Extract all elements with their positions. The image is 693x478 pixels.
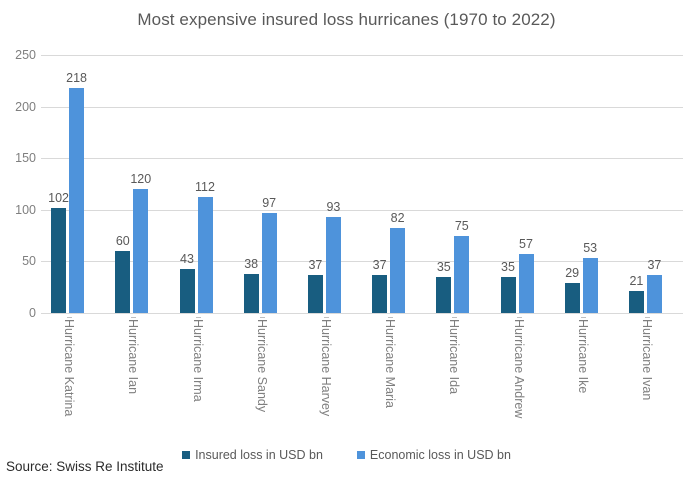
bar-group: 43112	[180, 55, 216, 313]
x-axis-category-label: Hurricane Irma	[191, 319, 205, 437]
bar-value-label: 120	[121, 172, 161, 186]
bar-value-label: 97	[249, 196, 289, 210]
bar-economic[interactable]	[198, 197, 213, 313]
bar-insured[interactable]	[244, 274, 259, 313]
bar-economic[interactable]	[69, 88, 84, 313]
x-axis-tick	[581, 317, 586, 318]
x-axis-category-label: Hurricane Ike	[576, 319, 590, 437]
bar-value-label: 37	[634, 258, 674, 272]
x-axis-line	[41, 313, 683, 314]
bar-chart: Most expensive insured loss hurricanes (…	[0, 0, 693, 478]
bar-economic[interactable]	[647, 275, 662, 313]
y-axis-tick-label: 200	[0, 100, 36, 114]
plot-area: 1022186012043112389737933782357535572953…	[41, 55, 683, 313]
bar-insured[interactable]	[501, 277, 516, 313]
x-axis-category-label: Hurricane Ida	[447, 319, 461, 437]
x-axis-category-label: Hurricane Ian	[126, 319, 140, 437]
bar-economic[interactable]	[133, 189, 148, 313]
bar-value-label: 93	[313, 200, 353, 214]
bar-insured[interactable]	[308, 275, 323, 313]
x-axis-category-label: Hurricane Ivan	[640, 319, 654, 437]
bar-group: 3782	[372, 55, 408, 313]
bar-insured[interactable]	[565, 283, 580, 313]
bar-value-label: 57	[506, 237, 546, 251]
x-axis-tick	[260, 317, 265, 318]
x-axis-tick	[67, 317, 72, 318]
legend-item[interactable]: Economic loss in USD bn	[357, 448, 511, 462]
bar-insured[interactable]	[115, 251, 130, 313]
y-axis-tick-label: 0	[0, 306, 36, 320]
x-axis-tick	[517, 317, 522, 318]
x-axis-category-label: Hurricane Andrew	[512, 319, 526, 437]
x-axis-tick	[196, 317, 201, 318]
bar-value-label: 75	[442, 219, 482, 233]
legend-swatch-icon	[182, 451, 190, 459]
bar-group: 102218	[51, 55, 87, 313]
legend-label: Insured loss in USD bn	[195, 448, 323, 462]
x-axis-category-label: Hurricane Katrina	[62, 319, 76, 437]
bar-insured[interactable]	[629, 291, 644, 313]
bar-economic[interactable]	[326, 217, 341, 313]
bar-insured[interactable]	[372, 275, 387, 313]
legend-item[interactable]: Insured loss in USD bn	[182, 448, 323, 462]
y-axis-tick-label: 100	[0, 203, 36, 217]
bar-economic[interactable]	[583, 258, 598, 313]
x-axis-tick	[645, 317, 650, 318]
bar-group: 2137	[629, 55, 665, 313]
source-note: Source: Swiss Re Institute	[6, 459, 164, 474]
bar-economic[interactable]	[262, 213, 277, 313]
legend-swatch-icon	[357, 451, 365, 459]
bar-group: 3793	[308, 55, 344, 313]
bar-economic[interactable]	[519, 254, 534, 313]
x-axis-tick	[324, 317, 329, 318]
bar-insured[interactable]	[180, 269, 195, 313]
x-axis-tick	[452, 317, 457, 318]
y-axis: 050100150200250	[0, 55, 36, 313]
bar-value-label: 53	[570, 241, 610, 255]
bar-insured[interactable]	[51, 208, 66, 313]
bar-value-label: 218	[57, 71, 97, 85]
bar-insured[interactable]	[436, 277, 451, 313]
bar-value-label: 112	[185, 180, 225, 194]
x-axis-tick	[388, 317, 393, 318]
bar-economic[interactable]	[390, 228, 405, 313]
bar-group: 2953	[565, 55, 601, 313]
bar-group: 60120	[115, 55, 151, 313]
x-axis-category-label: Hurricane Maria	[383, 319, 397, 437]
bar-value-label: 82	[378, 211, 418, 225]
y-axis-tick-label: 50	[0, 254, 36, 268]
x-axis-category-label: Hurricane Sandy	[255, 319, 269, 437]
chart-title: Most expensive insured loss hurricanes (…	[0, 10, 693, 30]
x-axis-category-label: Hurricane Harvey	[319, 319, 333, 437]
bar-group: 3575	[436, 55, 472, 313]
x-axis-tick	[131, 317, 136, 318]
x-axis-category-labels: Hurricane KatrinaHurricane IanHurricane …	[41, 319, 683, 439]
bar-group: 3897	[244, 55, 280, 313]
y-axis-tick-label: 250	[0, 48, 36, 62]
bar-group: 3557	[501, 55, 537, 313]
bar-economic[interactable]	[454, 236, 469, 313]
y-axis-tick-label: 150	[0, 151, 36, 165]
legend-label: Economic loss in USD bn	[370, 448, 511, 462]
